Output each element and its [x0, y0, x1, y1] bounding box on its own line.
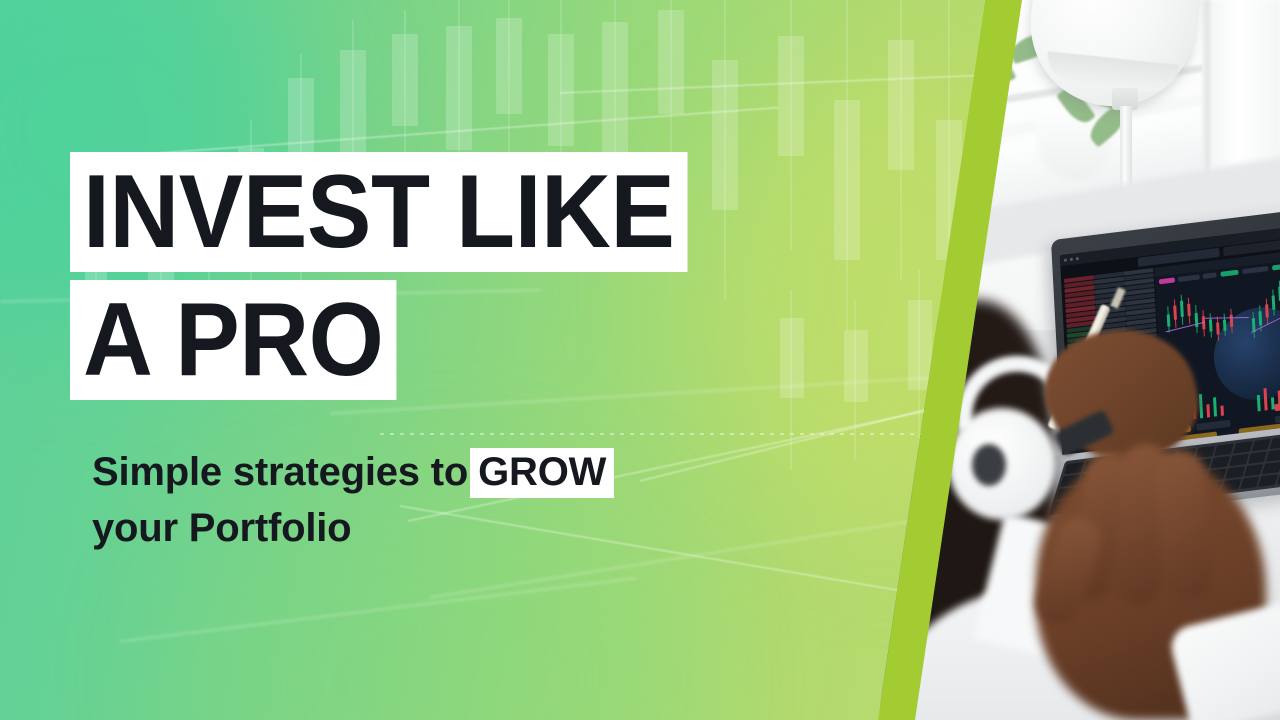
headline-block: INVEST LIKE A PRO — [70, 152, 734, 400]
subtitle-line-2: your Portfolio — [92, 500, 614, 556]
subtitle-block: Simple strategies toGROW your Portfolio — [92, 444, 614, 556]
subtitle-line-1: Simple strategies toGROW — [92, 444, 614, 500]
headline-line-1: INVEST LIKE — [70, 152, 687, 272]
subtitle-highlight-grow: GROW — [470, 448, 614, 498]
headphones-earcup-center — [972, 444, 1006, 486]
headline-line-2: A PRO — [70, 280, 396, 400]
banner-canvas: INVEST LIKE A PRO Simple strategies toGR… — [0, 0, 1280, 720]
subtitle-prefix: Simple strategies to — [92, 450, 468, 494]
